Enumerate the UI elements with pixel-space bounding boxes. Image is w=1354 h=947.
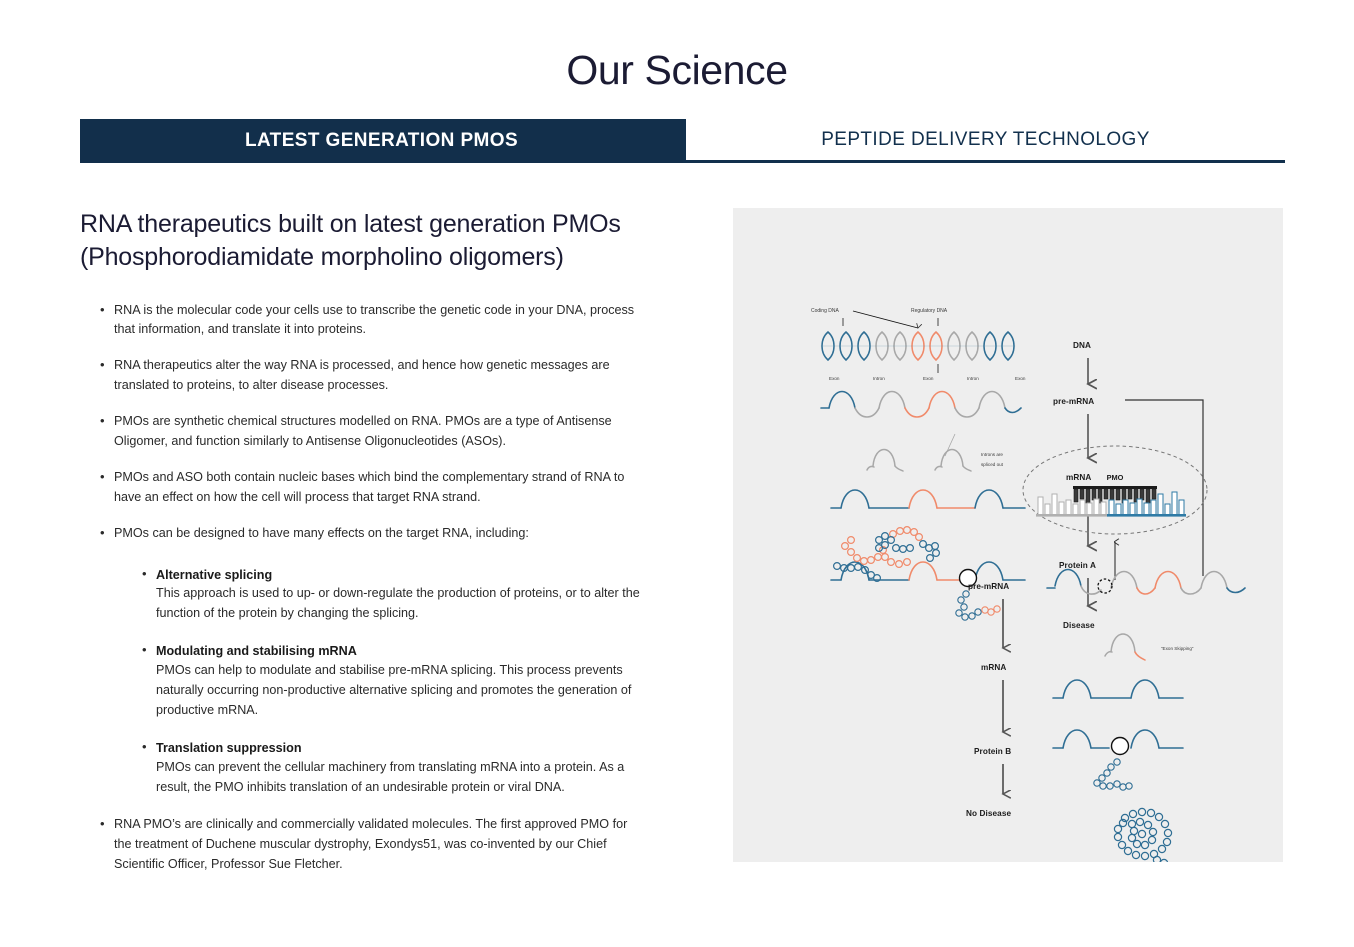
pmo-diagram-panel: Coding DNA Regulatory DNA Exon Intron	[733, 208, 1283, 862]
pathway-label-pre-mrna-2: pre-mRNA	[968, 582, 1009, 591]
sub-bullet-title: Translation suppression	[156, 739, 647, 758]
pathway-label-disease: Disease	[1063, 621, 1095, 630]
pmo-binding-detail-group: PMO	[1023, 446, 1207, 534]
result-mrna-wave	[1053, 680, 1183, 698]
sub-list-item: Alternative splicing This approach is us…	[144, 566, 647, 625]
sub-bullet-list: Alternative splicing This approach is us…	[114, 566, 647, 798]
pathway-label-protein-b: Protein B	[974, 747, 1011, 756]
page-root: Our Science LATEST GENERATION PMOS PEPTI…	[0, 0, 1354, 947]
bullet-text: PMOs are synthetic chemical structures m…	[114, 412, 647, 452]
tab-bar: LATEST GENERATION PMOS PEPTIDE DELIVERY …	[80, 119, 1285, 163]
bullet-list: RNA is the molecular code your cells use…	[80, 301, 655, 876]
bullet-text: RNA is the molecular code your cells use…	[114, 301, 647, 341]
pmo-comb-icon	[1073, 486, 1157, 503]
pathway-label-dna: DNA	[1073, 341, 1091, 350]
page-title: Our Science	[0, 47, 1354, 94]
sub-bullet-title: Modulating and stabilising mRNA	[156, 642, 647, 661]
sub-list-item: Modulating and stabilising mRNA PMOs can…	[144, 642, 647, 721]
tab-latest-generation-pmos[interactable]: LATEST GENERATION PMOS	[80, 119, 683, 163]
dna-helix-group: Coding DNA Regulatory DNA	[811, 308, 1015, 373]
pathway-label-protein-a: Protein A	[1059, 561, 1096, 570]
sub-bullet-body: PMOs can help to modulate and stabilise …	[156, 661, 647, 721]
sub-bullet-title: Alternative splicing	[156, 566, 647, 585]
sub-bullet-body: This approach is used to up- or down-reg…	[156, 584, 647, 624]
list-item: PMOs can be designed to have many effect…	[102, 524, 647, 798]
spliced-introns-group: Introns are spliced out	[867, 434, 1004, 471]
label-intron-2: Intron	[967, 376, 979, 381]
list-item: RNA PMO’s are clinically and commerciall…	[102, 815, 647, 875]
ribosome-icon-2	[1112, 738, 1129, 755]
bullet-text: PMOs can be designed to have many effect…	[114, 524, 647, 544]
label-introns-spliced-line2: spliced out	[981, 462, 1004, 467]
label-exon-2: Exon	[923, 376, 934, 381]
pre-mrna-wave-group: Exon Intron Exon Intron Exon	[821, 376, 1026, 417]
pathway-label-pre-mrna: pre-mRNA	[1053, 397, 1094, 406]
pathway-no-disease-group: pre-mRNA mRNA Protein B No Disease	[966, 582, 1011, 818]
label-exon-1: Exon	[829, 376, 840, 381]
sub-bullet-body: PMOs can prevent the cellular machinery …	[156, 758, 647, 798]
folded-protein-b-icon	[1114, 808, 1171, 862]
bullet-text: PMOs and ASO both contain nucleic bases …	[114, 468, 647, 508]
list-item: PMOs are synthetic chemical structures m…	[102, 412, 647, 452]
section-heading: RNA therapeutics built on latest generat…	[80, 208, 625, 275]
result-translation-group	[1053, 730, 1183, 790]
pmo-bound-premrna-group	[1047, 570, 1245, 595]
label-intron-1: Intron	[873, 376, 885, 381]
content-column: RNA therapeutics built on latest generat…	[80, 208, 655, 891]
exon-skipping-group: “Exon Skipping”	[1105, 634, 1194, 660]
pathway-disease-group: DNA pre-mRNA mRNA Protein A Disease	[1053, 341, 1096, 630]
pathway-label-mrna: mRNA	[1066, 473, 1091, 482]
label-pmo: PMO	[1107, 473, 1124, 482]
label-exon-skipping: “Exon Skipping”	[1161, 646, 1194, 651]
pmo-exon-skipping-diagram: Coding DNA Regulatory DNA Exon Intron	[733, 208, 1283, 862]
label-coding-dna: Coding DNA	[811, 308, 839, 314]
bullet-text: RNA therapeutics alter the way RNA is pr…	[114, 356, 647, 396]
pathway-label-mrna-2: mRNA	[981, 663, 1006, 672]
mrna-wave-group	[831, 490, 1025, 508]
label-introns-spliced-line1: Introns are	[981, 452, 1003, 457]
list-item: PMOs and ASO both contain nucleic bases …	[102, 468, 647, 508]
list-item: RNA is the molecular code your cells use…	[102, 301, 647, 341]
translation-group	[831, 562, 1025, 620]
list-item: RNA therapeutics alter the way RNA is pr…	[102, 356, 647, 396]
pathway-label-no-disease: No Disease	[966, 809, 1011, 818]
sub-bullet-wrapper: Alternative splicing This approach is us…	[114, 566, 647, 798]
sub-list-item: Translation suppression PMOs can prevent…	[144, 739, 647, 798]
label-exon-3: Exon	[1015, 376, 1026, 381]
label-regulatory-dna: Regulatory DNA	[911, 308, 948, 314]
misfolded-protein-a-icon	[834, 527, 940, 582]
tab-peptide-delivery-technology[interactable]: PEPTIDE DELIVERY TECHNOLOGY	[683, 119, 1285, 163]
bullet-text: RNA PMO’s are clinically and commerciall…	[114, 815, 647, 875]
